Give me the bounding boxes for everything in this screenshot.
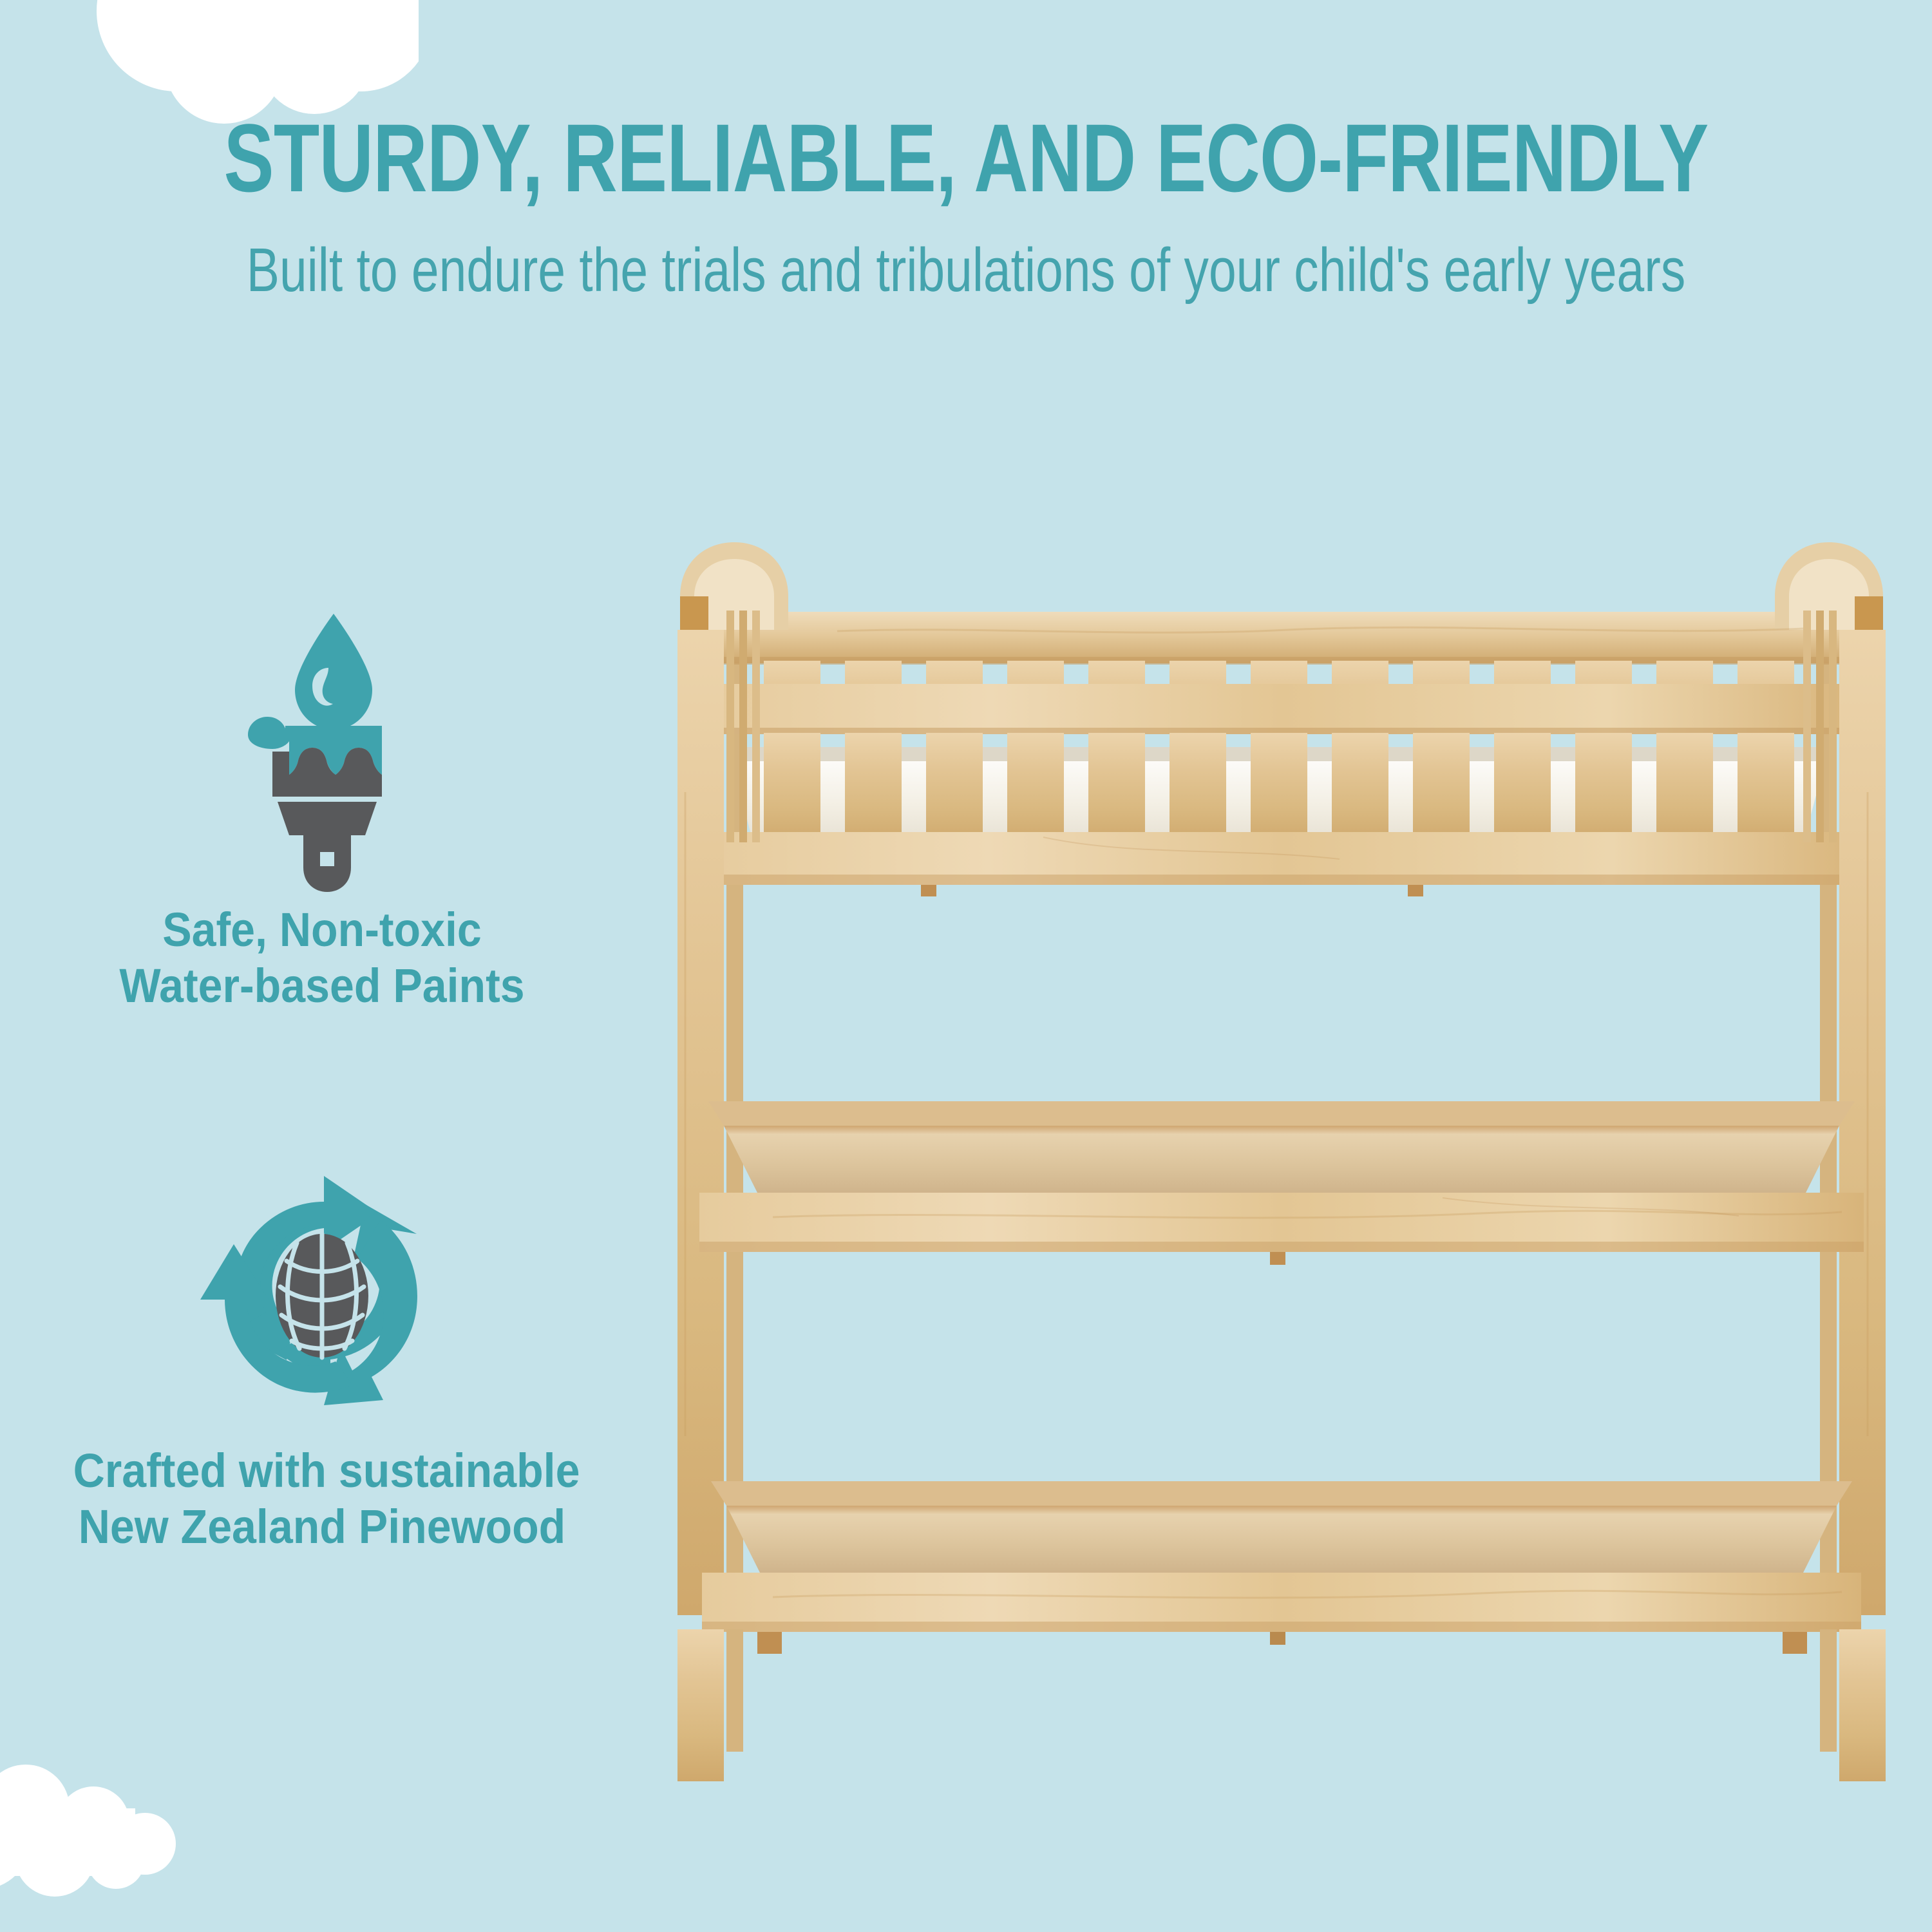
- feature-caption: Safe, Non-toxic Water-based Paints: [73, 902, 571, 1014]
- paintbrush-water-drop-icon: [52, 599, 592, 902]
- infographic-canvas: STURDY, RELIABLE, AND ECO-FRIENDLY Built…: [0, 0, 1932, 1932]
- product-image-changing-table: [644, 535, 1919, 1784]
- page-title: STURDY, RELIABLE, AND ECO-FRIENDLY: [213, 109, 1719, 206]
- feature-caption: Crafted with sustainable New Zealand Pin…: [73, 1443, 571, 1555]
- feature-sustainable-wood: Crafted with sustainable New Zealand Pin…: [52, 1140, 592, 1555]
- cloud-bottom-left-icon: [0, 1763, 232, 1905]
- page-subtitle: Built to endure the trials and tribulati…: [193, 240, 1739, 301]
- recycling-pinecone-icon: [52, 1140, 592, 1443]
- feature-safe-paints: Safe, Non-toxic Water-based Paints: [52, 599, 592, 1014]
